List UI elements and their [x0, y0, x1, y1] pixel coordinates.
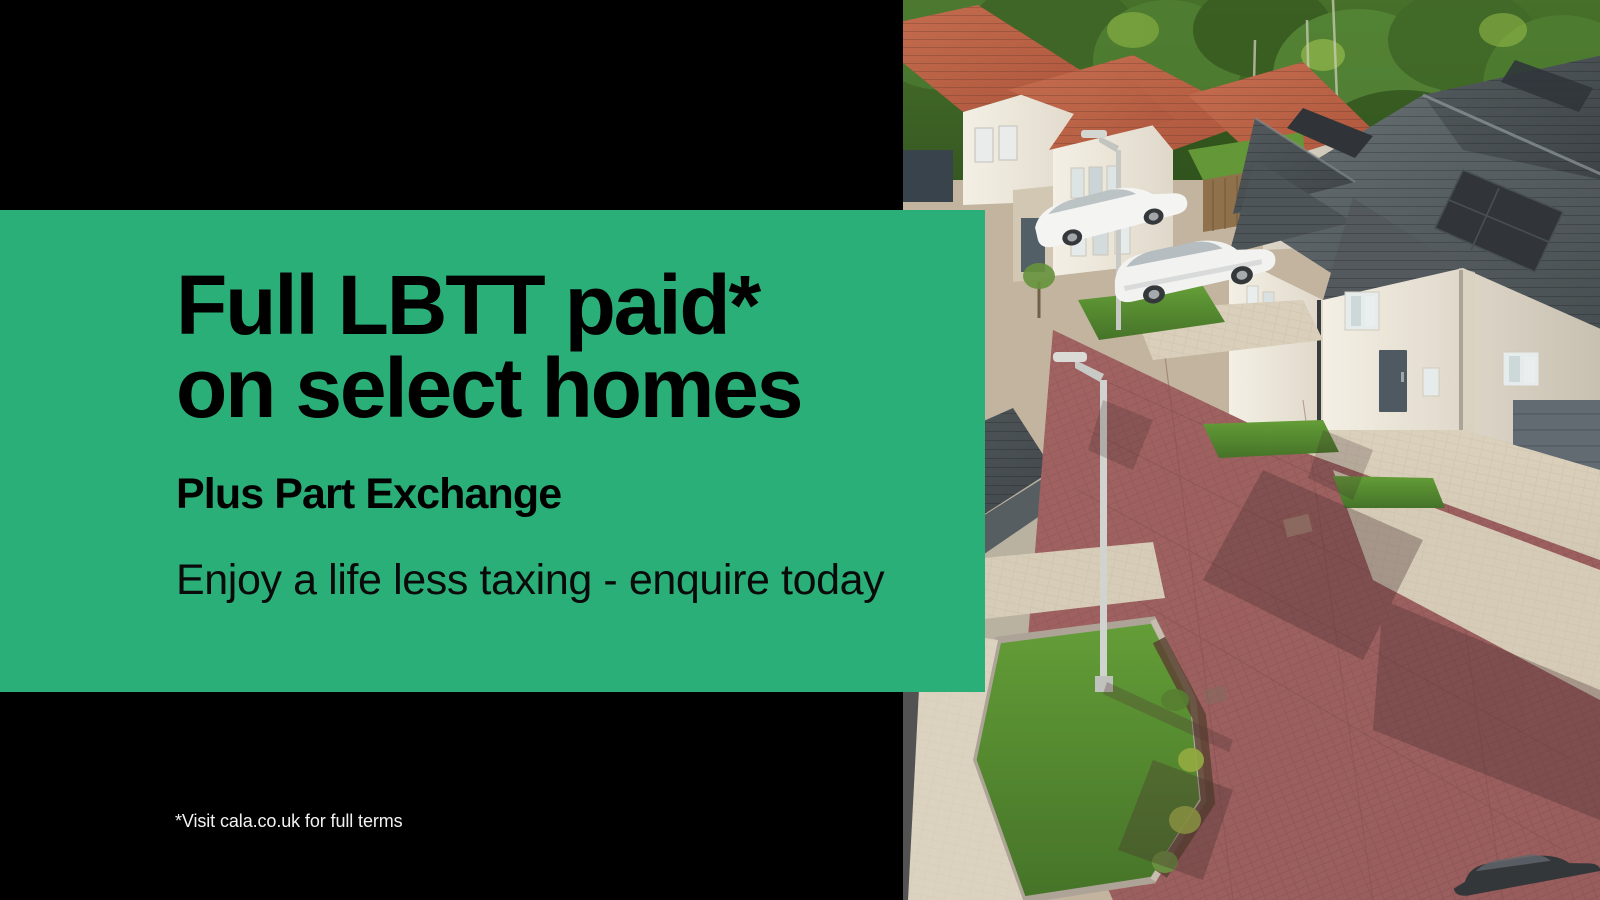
headline-line-2: on select homes — [176, 347, 936, 430]
headline-line-1: Full LBTT paid* — [176, 264, 936, 347]
tagline: Enjoy a life less taxing - enquire today — [176, 556, 884, 605]
subheadline: Plus Part Exchange — [176, 470, 561, 519]
terms-disclaimer: *Visit cala.co.uk for full terms — [175, 811, 403, 832]
promotional-banner: Full LBTT paid* on select homes Plus Par… — [0, 0, 1600, 900]
housing-development-photo — [903, 0, 1600, 900]
page-title: Full LBTT paid* on select homes — [176, 264, 936, 430]
